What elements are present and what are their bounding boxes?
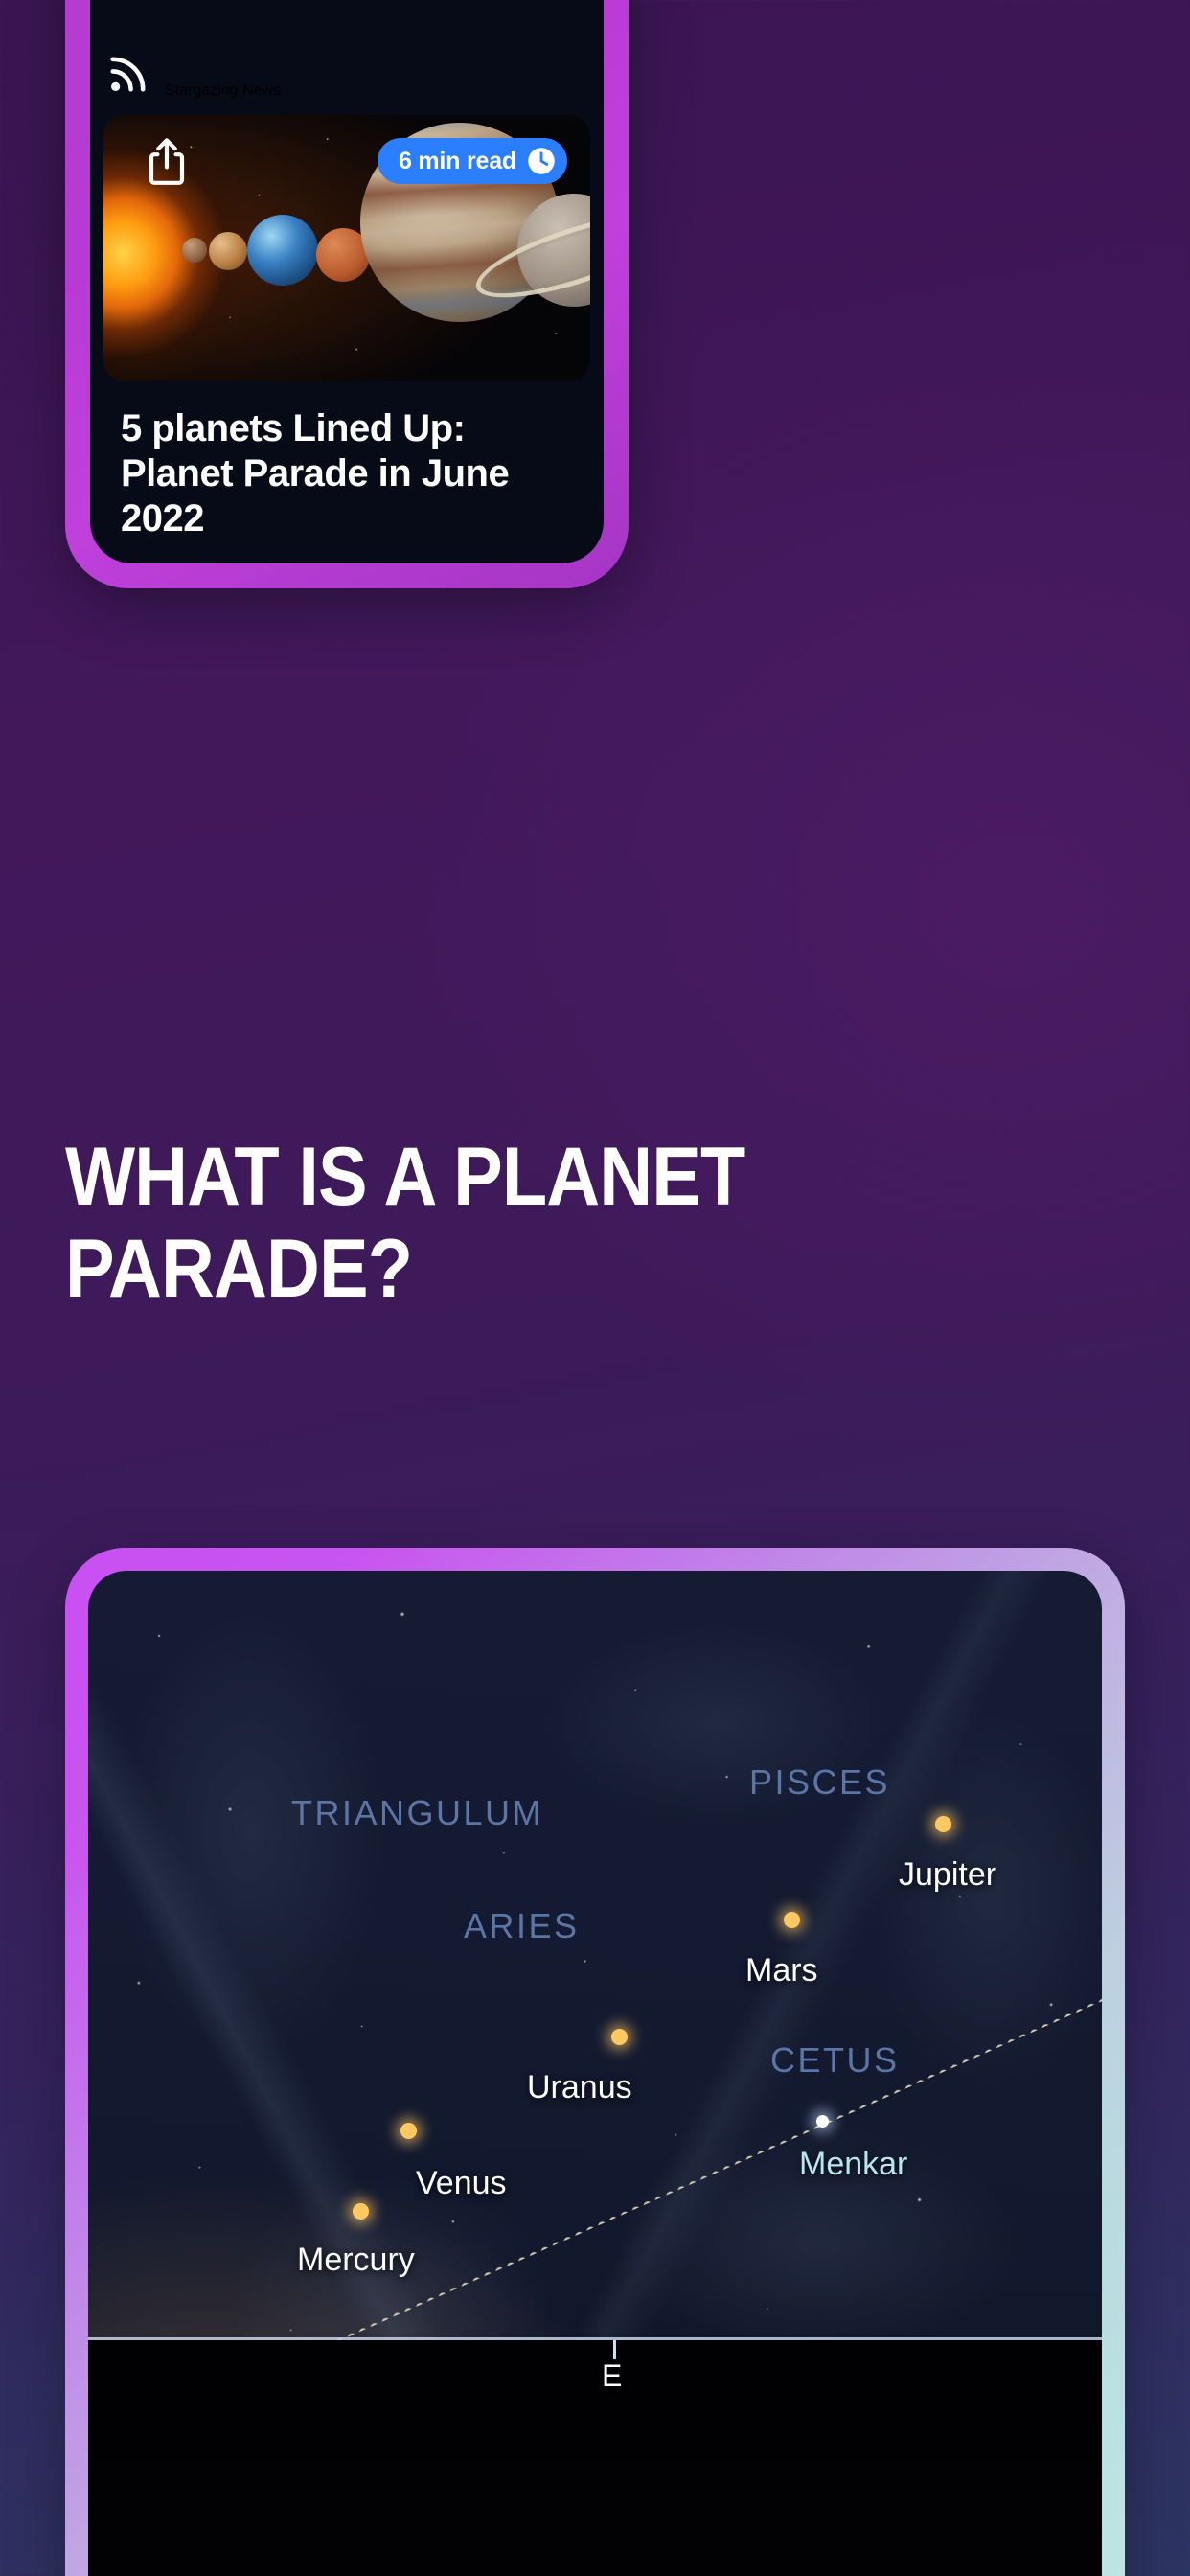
news-card-body: 5 planets Lined Up: Planet Parade in Jun… xyxy=(90,381,604,563)
section-heading: WHAT IS A PLANET PARADE? xyxy=(65,1131,979,1316)
below-horizon-area xyxy=(88,2340,1102,2576)
planet-earth-graphic xyxy=(247,215,318,286)
constellation-label-cetus: CETUS xyxy=(770,2040,900,2081)
sky-map-card[interactable]: TRIANGULUM PISCES ARIES CETUS Jupiter Ma… xyxy=(88,1571,1102,2576)
planet-marker-venus xyxy=(400,2123,417,2139)
news-card-frame: Stargazing News 6 min read xyxy=(65,0,629,588)
planet-mercury-graphic xyxy=(182,238,207,263)
news-card[interactable]: Stargazing News 6 min read xyxy=(90,0,604,563)
news-title: 5 planets Lined Up: Planet Parade in Jun… xyxy=(121,406,573,542)
planet-venus-graphic xyxy=(209,232,247,270)
star-label-menkar[interactable]: Menkar xyxy=(799,2146,907,2183)
planet-label-jupiter[interactable]: Jupiter xyxy=(899,1856,996,1894)
compass-tick-east xyxy=(613,2340,616,2359)
planet-label-mars[interactable]: Mars xyxy=(745,1952,818,1989)
share-icon[interactable] xyxy=(144,136,190,188)
planet-label-uranus[interactable]: Uranus xyxy=(527,2069,632,2106)
planet-marker-jupiter xyxy=(935,1816,951,1832)
news-brand-title: Stargazing News xyxy=(165,82,281,100)
constellation-label-triangulum: TRIANGULUM xyxy=(291,1793,543,1833)
read-time-label: 6 min read xyxy=(399,148,516,175)
planet-marker-mars xyxy=(784,1912,800,1928)
news-description: A rare planet parade is coming: five pla… xyxy=(121,558,573,563)
planet-marker-uranus xyxy=(611,2029,628,2045)
news-card-header: Stargazing News xyxy=(90,0,604,115)
planet-marker-mercury xyxy=(353,2203,369,2219)
compass-label-east: E xyxy=(602,2358,622,2394)
rss-icon xyxy=(107,51,151,95)
constellation-label-pisces: PISCES xyxy=(749,1762,890,1803)
planet-label-venus[interactable]: Venus xyxy=(416,2165,507,2202)
sky-map-card-frame: TRIANGULUM PISCES ARIES CETUS Jupiter Ma… xyxy=(65,1548,1125,2576)
star-marker-menkar xyxy=(816,2115,829,2127)
news-hero-image[interactable]: 6 min read xyxy=(103,115,590,381)
clock-icon xyxy=(527,147,556,175)
read-time-badge: 6 min read xyxy=(378,138,567,184)
constellation-label-aries: ARIES xyxy=(464,1906,580,1946)
planet-label-mercury[interactable]: Mercury xyxy=(297,2242,415,2279)
